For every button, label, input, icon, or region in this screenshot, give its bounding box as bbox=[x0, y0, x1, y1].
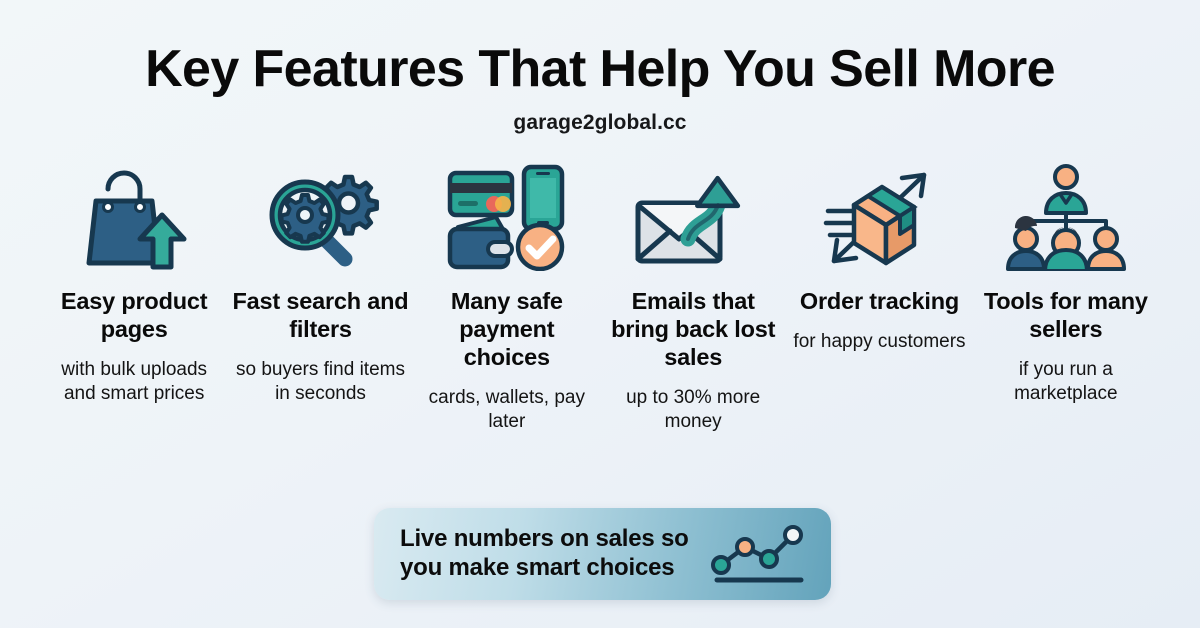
live-numbers-banner: Live numbers on sales so you make smart … bbox=[374, 508, 831, 600]
envelope-up-arrow-icon bbox=[630, 161, 756, 273]
team-network-icon bbox=[1002, 161, 1130, 273]
feature-row: Easy product pages with bulk uploads and… bbox=[41, 161, 1159, 435]
feature-title: Order tracking bbox=[800, 287, 959, 315]
feature-description: for happy customers bbox=[793, 330, 965, 354]
feature-description: so buyers find items in seconds bbox=[231, 358, 409, 407]
payment-methods-icon bbox=[444, 161, 570, 273]
brand-subtitle: garage2global.cc bbox=[145, 111, 1055, 135]
package-tracking-icon bbox=[820, 161, 938, 273]
feature-description: if you run a marketplace bbox=[977, 358, 1155, 407]
feature-description: up to 30% more money bbox=[604, 386, 782, 435]
feature-item-fast-search: Fast search and filters so buyers find i… bbox=[227, 161, 413, 407]
feature-title: Tools for many sellers bbox=[977, 287, 1155, 343]
feature-title: Emails that bring back lost sales bbox=[604, 287, 782, 372]
header: Key Features That Help You Sell More gar… bbox=[145, 42, 1055, 135]
feature-title: Easy product pages bbox=[45, 287, 223, 343]
page-title: Key Features That Help You Sell More bbox=[145, 42, 1055, 97]
shopping-bag-up-arrow-icon bbox=[75, 161, 193, 273]
infographic-canvas: Key Features That Help You Sell More gar… bbox=[0, 0, 1200, 628]
feature-title: Many safe payment choices bbox=[418, 287, 596, 372]
line-chart-icon bbox=[709, 518, 809, 591]
feature-item-payments: Many safe payment choices cards, wallets… bbox=[414, 161, 600, 435]
feature-description: with bulk uploads and smart prices bbox=[45, 358, 223, 407]
feature-item-many-sellers: Tools for many sellers if you run a mark… bbox=[973, 161, 1159, 407]
feature-description: cards, wallets, pay later bbox=[418, 386, 596, 435]
feature-item-order-tracking: Order tracking for happy customers bbox=[786, 161, 972, 355]
feature-item-emails: Emails that bring back lost sales up to … bbox=[600, 161, 786, 435]
feature-item-easy-product-pages: Easy product pages with bulk uploads and… bbox=[41, 161, 227, 407]
magnifier-gears-icon bbox=[261, 161, 379, 273]
feature-title: Fast search and filters bbox=[231, 287, 409, 343]
banner-text: Live numbers on sales so you make smart … bbox=[400, 525, 695, 583]
